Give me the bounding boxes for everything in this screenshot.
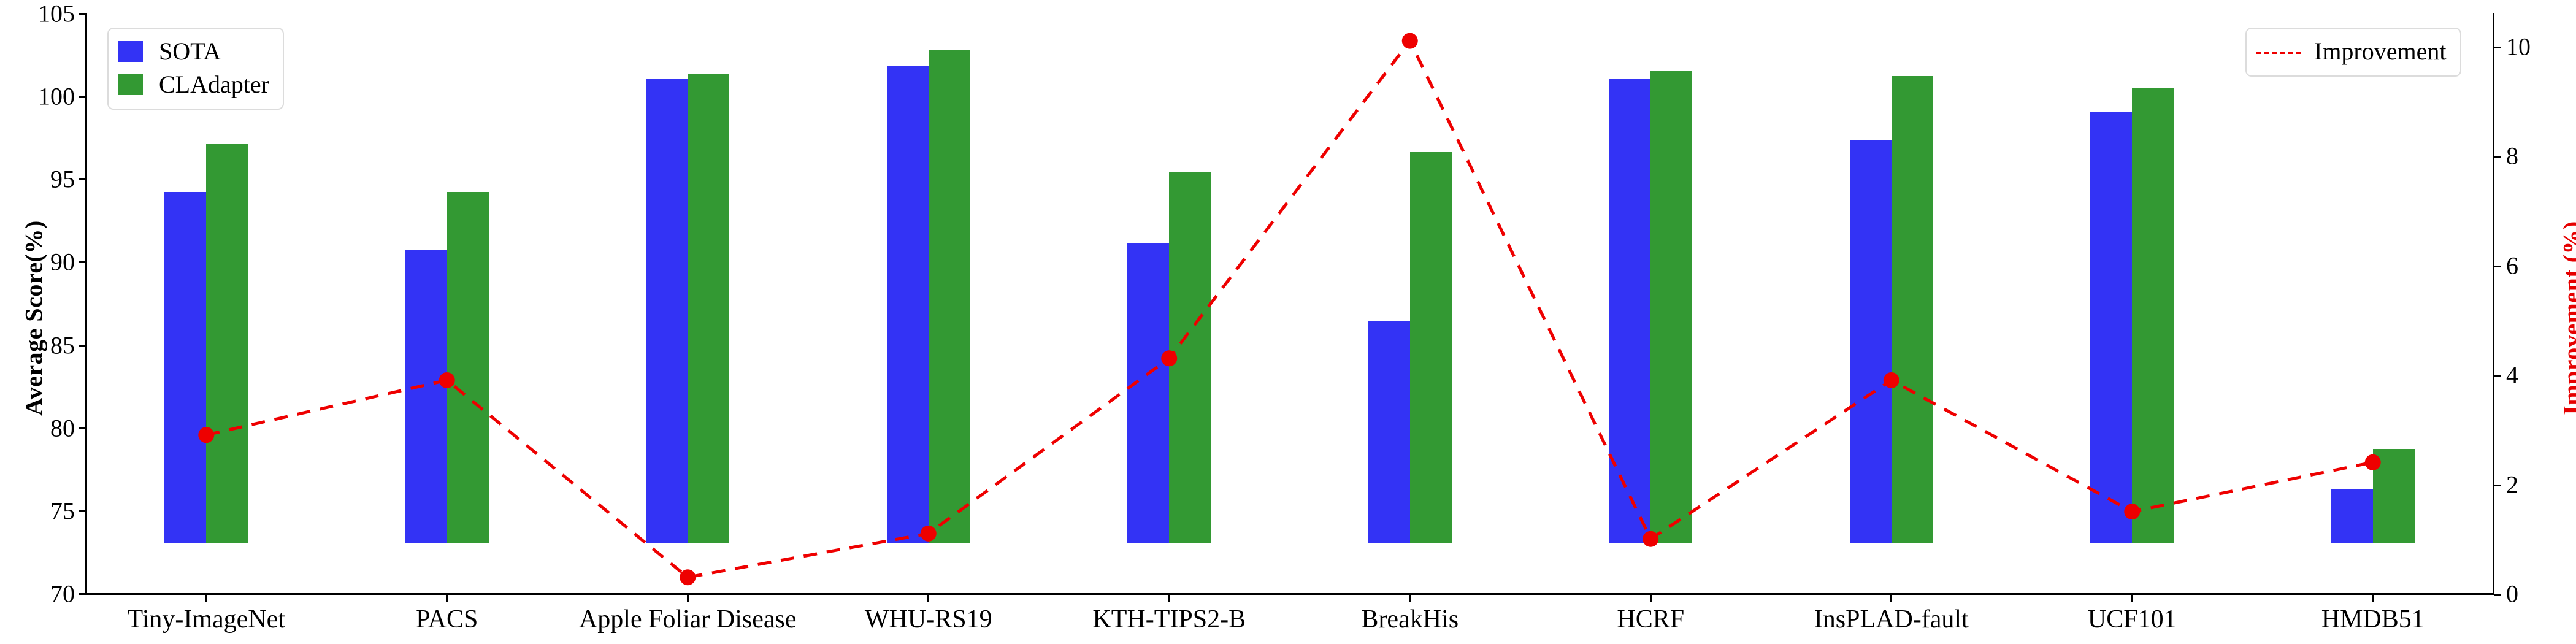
legend-item-sota[interactable]: SOTA — [118, 35, 269, 68]
legend-swatch-cladapter-icon — [118, 74, 143, 95]
legend-dashed-line-icon — [2256, 41, 2301, 62]
chart-figure: 707580859095100105 0246810 Average Score… — [0, 0, 2576, 644]
legend-bars: SOTA CLAdapter — [107, 28, 284, 110]
improvement-line-series — [0, 0, 2576, 644]
legend-label-improvement: Improvement — [2314, 39, 2447, 64]
legend-label-sota: SOTA — [159, 39, 221, 64]
improvement-marker-7 — [1884, 372, 1899, 388]
improvement-marker-8 — [2124, 504, 2140, 519]
legend-label-cladapter: CLAdapter — [159, 72, 269, 97]
legend-item-improvement[interactable]: Improvement — [2256, 35, 2447, 68]
improvement-marker-3 — [921, 526, 937, 542]
improvement-polyline — [206, 41, 2373, 578]
improvement-marker-5 — [1402, 33, 1418, 49]
improvement-marker-4 — [1161, 350, 1177, 366]
improvement-marker-9 — [2365, 454, 2381, 470]
legend-line: Improvement — [2245, 28, 2461, 77]
improvement-marker-2 — [680, 569, 696, 585]
legend-item-cladapter[interactable]: CLAdapter — [118, 68, 269, 101]
improvement-marker-1 — [439, 372, 455, 388]
improvement-marker-0 — [198, 427, 214, 443]
legend-swatch-sota-icon — [118, 41, 143, 62]
improvement-marker-6 — [1643, 531, 1658, 547]
